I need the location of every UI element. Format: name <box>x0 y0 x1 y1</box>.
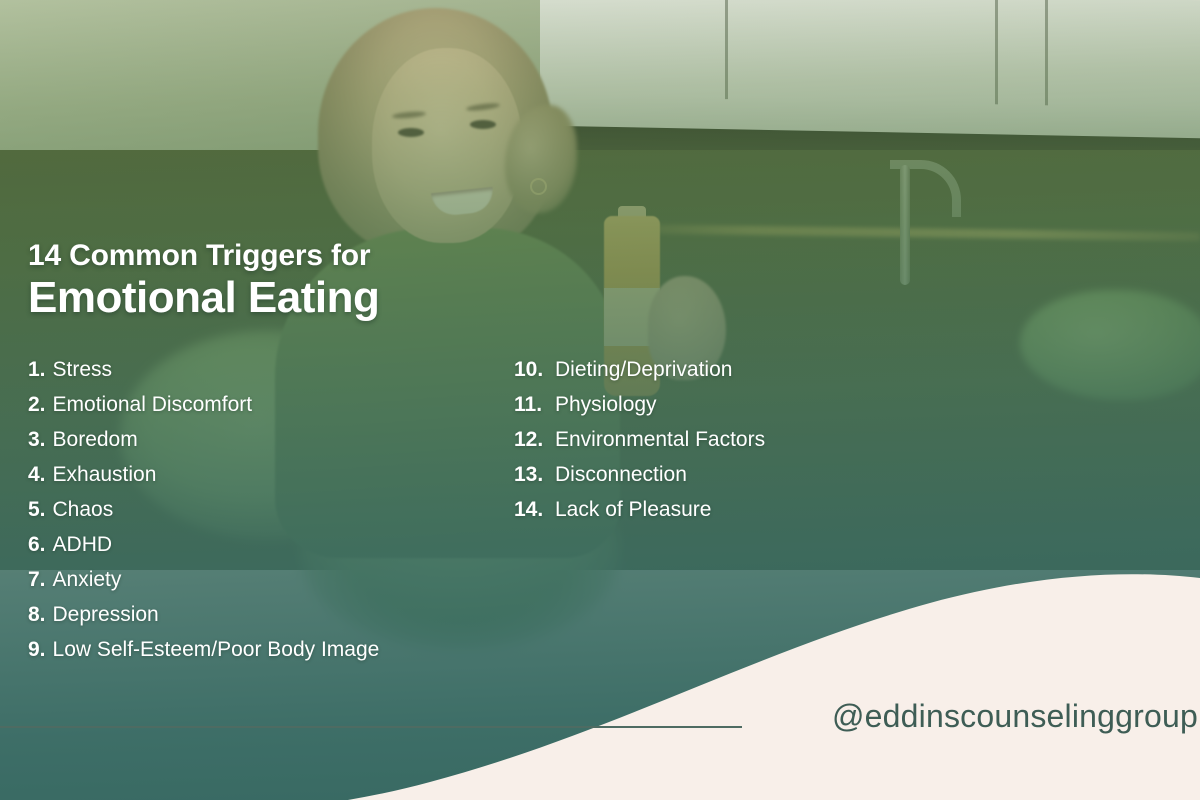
list-item: 5. Chaos <box>28 492 498 527</box>
footer: @eddinscounselinggroup <box>0 690 1200 800</box>
list-item-number: 13. <box>514 457 548 492</box>
list-item-number: 10. <box>514 352 548 387</box>
page-title: 14 Common Triggers for Emotional Eating <box>28 240 588 322</box>
list-item-number: 1. <box>28 352 46 387</box>
list-item: 12. Environmental Factors <box>514 422 1074 457</box>
list-item: 10. Dieting/Deprivation <box>514 352 1074 387</box>
footer-divider-line <box>0 726 742 728</box>
list-item-number: 8. <box>28 597 46 632</box>
title-line-2: Emotional Eating <box>28 274 588 322</box>
list-item-label: Physiology <box>555 387 657 422</box>
list-item: 6. ADHD <box>28 527 498 562</box>
list-item-number: 5. <box>28 492 46 527</box>
list-item-label: Anxiety <box>53 562 122 597</box>
list-item-label: Exhaustion <box>53 457 157 492</box>
list-item: 2. Emotional Discomfort <box>28 387 498 422</box>
list-item: 7. Anxiety <box>28 562 498 597</box>
list-item: 8. Depression <box>28 597 498 632</box>
list-item-number: 6. <box>28 527 46 562</box>
list-item-number: 2. <box>28 387 46 422</box>
list-item-label: Stress <box>53 352 113 387</box>
list-item-number: 11. <box>514 387 548 422</box>
list-item: 3. Boredom <box>28 422 498 457</box>
list-item-label: Environmental Factors <box>555 422 765 457</box>
list-item-label: Boredom <box>53 422 138 457</box>
list-item-label: Lack of Pleasure <box>555 492 711 527</box>
list-item-label: Emotional Discomfort <box>53 387 253 422</box>
list-item-number: 12. <box>514 422 548 457</box>
list-item-number: 9. <box>28 632 46 667</box>
list-item-number: 7. <box>28 562 46 597</box>
content-layer: 14 Common Triggers for Emotional Eating … <box>0 0 1200 800</box>
list-item: 9. Low Self-Esteem/Poor Body Image <box>28 632 498 667</box>
trigger-list-column-left: 1. Stress 2. Emotional Discomfort 3. Bor… <box>28 352 498 667</box>
list-item-label: Chaos <box>53 492 114 527</box>
list-item: 14. Lack of Pleasure <box>514 492 1074 527</box>
list-item-number: 3. <box>28 422 46 457</box>
list-item: 11. Physiology <box>514 387 1074 422</box>
infographic-canvas: 14 Common Triggers for Emotional Eating … <box>0 0 1200 800</box>
trigger-list-column-right: 10. Dieting/Deprivation 11. Physiology 1… <box>514 352 1074 527</box>
list-item-label: Disconnection <box>555 457 687 492</box>
list-item-label: Low Self-Esteem/Poor Body Image <box>53 632 380 667</box>
list-item-number: 14. <box>514 492 548 527</box>
list-item-label: ADHD <box>53 527 113 562</box>
list-item: 4. Exhaustion <box>28 457 498 492</box>
list-item-number: 4. <box>28 457 46 492</box>
social-handle: @eddinscounselinggroup <box>832 698 1198 735</box>
list-item: 1. Stress <box>28 352 498 387</box>
list-item-label: Dieting/Deprivation <box>555 352 732 387</box>
list-item: 13. Disconnection <box>514 457 1074 492</box>
title-line-1: 14 Common Triggers for <box>28 240 588 272</box>
list-item-label: Depression <box>53 597 159 632</box>
